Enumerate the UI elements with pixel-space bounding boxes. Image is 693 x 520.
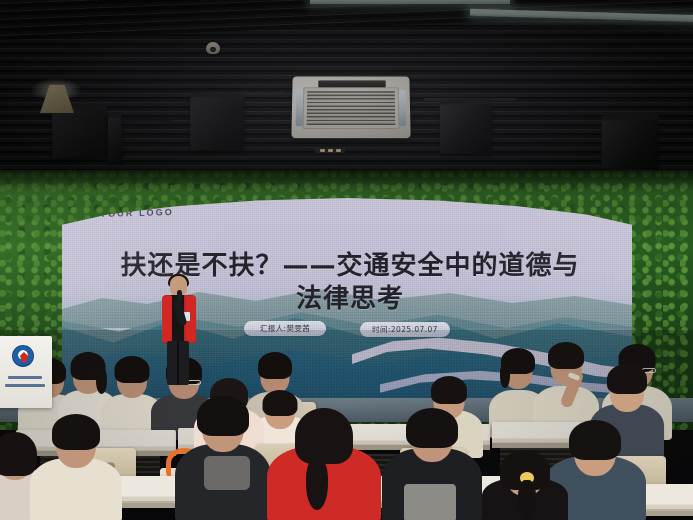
school-emblem-standee [0, 336, 52, 408]
student-front-2 [40, 416, 112, 520]
ceiling [0, 0, 693, 180]
microphone-icon [177, 290, 182, 302]
student-presenter [152, 276, 208, 388]
sign-caption-line-2 [5, 384, 45, 387]
audience-area [0, 330, 693, 520]
sign-caption-line-1 [8, 376, 42, 379]
student-front-5 [394, 410, 470, 520]
student-front-3 [186, 398, 260, 520]
ceiling-vignette [0, 0, 693, 180]
student-front-4 [284, 414, 364, 520]
school-emblem-icon [12, 345, 34, 367]
hedge-top-shadow [0, 170, 693, 192]
photo-scene: YOUR LOGO 扶还是不扶？——交通安全中的道德与法律思考 汇报人:樊雯茜 … [0, 0, 693, 520]
student-front-6 [490, 450, 560, 520]
presenter-legs [167, 341, 189, 385]
